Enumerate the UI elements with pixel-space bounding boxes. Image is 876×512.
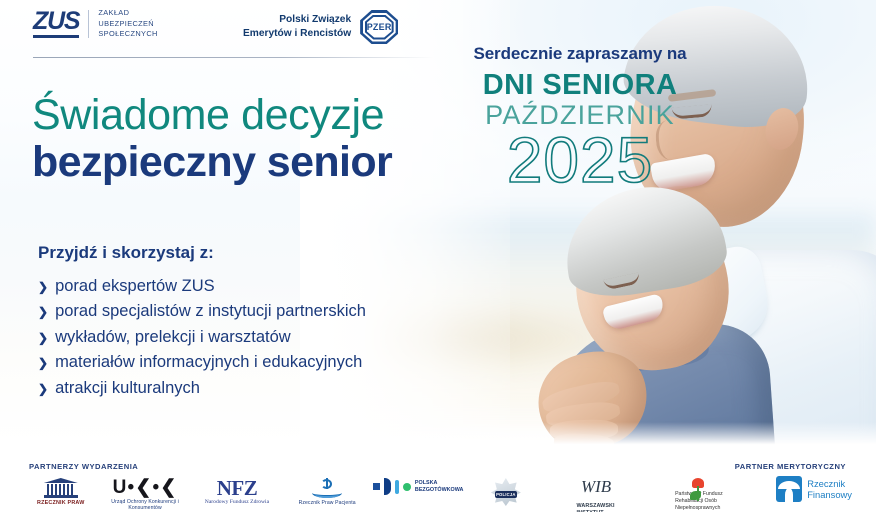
list-item: ❯ porad ekspertów ZUS [38,274,366,299]
rzecznik-finansowy-icon [776,476,802,502]
list-item-label: atrakcji kulturalnych [55,376,200,401]
pzer-name-line2: Emerytów i Rencistów [243,27,351,41]
partner-logo-nfz-mark: NFZ [217,478,258,499]
header-divider [33,57,433,58]
wib-text: WARSZAWSKI INSTYTUT BANKOWOŚCI [577,503,616,512]
rzecznik-finansowy-text: Rzecznik Finansowy [807,478,852,501]
invitation-intro: Serdecznie zapraszamy na [455,44,705,64]
list-item-label: materiałów informacyjnych i edukacyjnych [55,350,362,375]
partner-logo-uokik[interactable]: U•❮•❮ Urząd Ochrony Konkurencji i Konsum… [100,478,191,512]
pzer-name: Polski Związek Emerytów i Rencistów [243,13,351,41]
partner-logo-rpo-label: RZECZNIK PRAW [37,500,85,506]
zus-logo[interactable]: ZUS ZAKŁAD UBEZPIECZEŃ SPOŁECZNYCH [33,8,158,40]
zus-wordmark: ZUS [33,9,79,38]
chevron-right-icon: ❯ [38,278,48,296]
caduceus-wave-icon [312,478,342,498]
polska-bezgotowkowa-text: POLSKA BEZGOTÓWKOWA [415,480,464,494]
chevron-right-icon: ❯ [38,380,48,398]
wib-signature-icon: WIB [581,478,611,495]
partner-logo-rzecznik-finansowy[interactable]: Rzecznik Finansowy [776,476,852,502]
partner-logo-uokik-mark: U•❮•❮ [113,478,178,497]
zus-subtitle: ZAKŁAD UBEZPIECZEŃ SPOŁECZNYCH [98,8,157,40]
courthouse-icon [44,478,78,498]
zus-subtitle-line2: UBEZPIECZEŃ [98,19,157,30]
partner-logo-pfron[interactable]: Państwowy Fundusz Rehabilitacji Osób Nie… [646,478,752,512]
rf-line1: Rzecznik [807,478,845,489]
partner-logo-nfz[interactable]: NFZ Narodowy Fundusz Zdrowia [191,478,284,512]
headline-line2: bezpieczny senior [32,139,392,186]
poster-root: ZUS ZAKŁAD UBEZPIECZEŃ SPOŁECZNYCH Polsk… [0,0,876,512]
list-item-label: porad ekspertów ZUS [55,274,215,299]
partner-logo-row: RZECZNIK PRAW U•❮•❮ Urząd Ochrony Konkur… [22,478,752,512]
header: ZUS ZAKŁAD UBEZPIECZEŃ SPOŁECZNYCH Polsk… [0,0,876,52]
chevron-right-icon: ❯ [38,329,48,347]
chevron-right-icon: ❯ [38,303,48,321]
pzer-name-line1: Polski Związek [243,13,351,27]
police-star-icon: POLICJA [491,478,521,506]
partner-logo-rpo[interactable]: RZECZNIK PRAW [22,478,100,512]
pzer-badge-label: PZER [367,22,392,32]
pfron-line3: Niepełnosprawnych [675,505,720,511]
zus-subtitle-line3: SPOŁECZNYCH [98,29,157,40]
event-year: 2025 [455,130,705,191]
pb-line1: POLSKA [415,480,437,486]
photo-bottom-fade [0,422,876,448]
headline-line1: Świadome decyzje [32,92,392,138]
pzer-logo[interactable]: Polski Związek Emerytów i Rencistów PZER [243,10,398,44]
cta-title: Przyjdź i skorzystaj z: [38,243,214,263]
wib-line1: WARSZAWSKI [577,503,615,509]
zus-subtitle-line1: ZAKŁAD [98,8,157,19]
chevron-right-icon: ❯ [38,354,48,372]
list-item: ❯ atrakcji kulturalnych [38,376,366,401]
partner-logo-rpp[interactable]: Rzecznik Praw Pacjenta [283,478,371,512]
zus-divider [88,10,89,38]
expert-partner-label: PARTNER MERYTORYCZNY [735,462,846,471]
rf-line2: Finansowy [807,489,852,500]
partner-logo-uokik-caption: Urząd Ochrony Konkurencji i Konsumentów [100,499,191,512]
pb-line2: BEZGOTÓWKOWA [415,487,464,493]
event-name: DNI SENIORA [455,71,705,100]
partner-logo-polska-bezgotowkowa[interactable]: POLSKA BEZGOTÓWKOWA [371,478,465,512]
tulip-icon [690,478,707,486]
list-item-label: wykładów, prelekcji i warsztatów [55,325,291,350]
polska-bezgotowkowa-icon: POLSKA BEZGOTÓWKOWA [373,478,464,495]
list-item: ❯ materiałów informacyjnych i edukacyjny… [38,350,366,375]
list-item: ❯ wykładów, prelekcji i warsztatów [38,325,366,350]
police-label: POLICJA [496,492,516,497]
partner-logo-nfz-caption: Narodowy Fundusz Zdrowia [205,499,269,505]
partner-logo-rpp-caption: Rzecznik Praw Pacjenta [299,500,356,506]
pzer-octagon-icon: PZER [360,10,398,44]
list-item-label: porad specjalistów z instytucji partners… [55,299,366,324]
partner-logo-policja[interactable]: POLICJA [465,478,546,512]
partner-logo-wib[interactable]: WIB WARSZAWSKI INSTYTUT BANKOWOŚCI [546,478,645,512]
list-item: ❯ porad specjalistów z instytucji partne… [38,299,366,324]
benefits-list: ❯ porad ekspertów ZUS ❯ porad specjalist… [38,274,366,401]
partners-label: PARTNERZY WYDARZENIA [29,462,138,471]
page-title: Świadome decyzje bezpieczny senior [32,92,392,186]
footer: PARTNERZY WYDARZENIA PARTNER MERYTORYCZN… [0,448,876,512]
invitation-block: Serdecznie zapraszamy na DNI SENIORA PAŹ… [455,44,705,191]
